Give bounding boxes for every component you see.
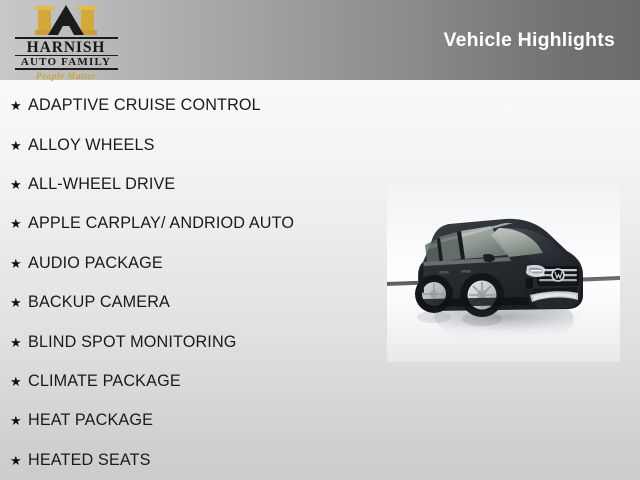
logo-divider-bottom xyxy=(15,68,118,70)
star-bullet-icon: ★ xyxy=(10,336,28,349)
feature-label: ADAPTIVE CRUISE CONTROL xyxy=(28,96,261,115)
list-item: ★ CLIMATE PACKAGE xyxy=(0,362,380,401)
vehicle-photo xyxy=(387,183,620,362)
logo-name-line2: AUTO FAMILY xyxy=(12,56,120,68)
star-bullet-icon: ★ xyxy=(10,454,28,467)
page-title: Vehicle Highlights xyxy=(443,29,615,52)
star-bullet-icon: ★ xyxy=(10,178,28,191)
star-bullet-icon: ★ xyxy=(10,257,28,270)
star-bullet-icon: ★ xyxy=(10,217,28,230)
list-item: ★ BLIND SPOT MONITORING xyxy=(0,322,380,361)
list-item: ★ ALL-WHEEL DRIVE xyxy=(0,165,380,204)
dealer-logo: HARNISH AUTO FAMILY People Matter xyxy=(12,5,120,77)
feature-label: AUDIO PACKAGE xyxy=(28,254,163,273)
star-bullet-icon: ★ xyxy=(10,296,28,309)
feature-label: HEATED SEATS xyxy=(28,451,151,470)
list-item: ★ BACKUP CAMERA xyxy=(0,283,380,322)
header-bar: HARNISH AUTO FAMILY People Matter Vehicl… xyxy=(0,0,640,80)
feature-label: BACKUP CAMERA xyxy=(28,293,170,312)
feature-label: ALLOY WHEELS xyxy=(28,136,155,155)
vehicle-highlights-list: ★ ADAPTIVE CRUISE CONTROL ★ ALLOY WHEELS… xyxy=(0,86,380,480)
logo-tagline: People Matter xyxy=(12,71,120,81)
harnish-emblem-icon xyxy=(12,5,120,36)
feature-label: ALL-WHEEL DRIVE xyxy=(28,175,175,194)
feature-label: HEAT PACKAGE xyxy=(28,411,153,430)
feature-label: APPLE CARPLAY/ ANDRIOD AUTO xyxy=(28,214,294,233)
star-bullet-icon: ★ xyxy=(10,99,28,112)
list-item: ★ HEAT PACKAGE xyxy=(0,401,380,440)
vehicle-highlights-page: HARNISH AUTO FAMILY People Matter Vehicl… xyxy=(0,0,640,480)
star-bullet-icon: ★ xyxy=(10,375,28,388)
list-item: ★ AUDIO PACKAGE xyxy=(0,244,380,283)
list-item: ★ APPLE CARPLAY/ ANDRIOD AUTO xyxy=(0,204,380,243)
feature-label: BLIND SPOT MONITORING xyxy=(28,333,237,352)
feature-label: CLIMATE PACKAGE xyxy=(28,372,181,391)
star-bullet-icon: ★ xyxy=(10,139,28,152)
list-item: ★ ADAPTIVE CRUISE CONTROL xyxy=(0,86,380,125)
list-item: ★ HEATED SEATS xyxy=(0,441,380,480)
logo-name-line1: HARNISH xyxy=(12,40,120,55)
list-item: ★ ALLOY WHEELS xyxy=(0,125,380,164)
star-bullet-icon: ★ xyxy=(10,414,28,427)
